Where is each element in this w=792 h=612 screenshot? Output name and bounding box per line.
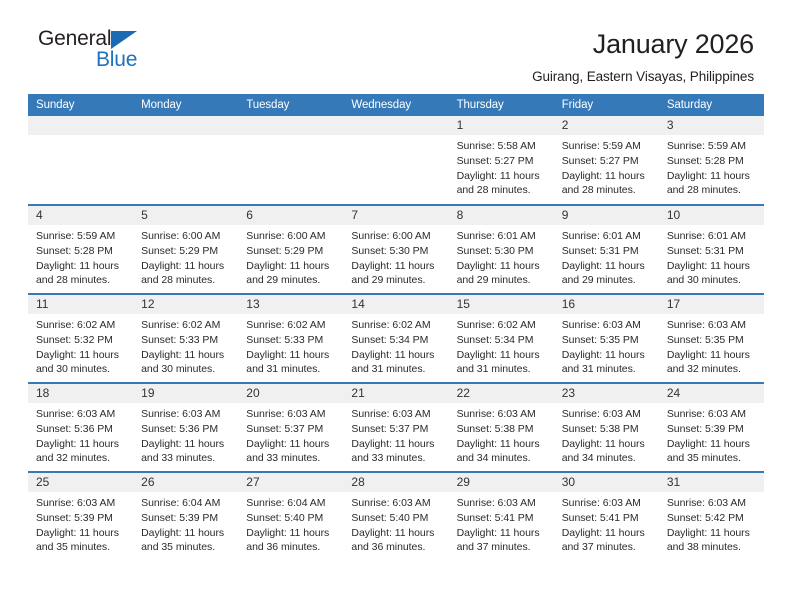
- daylight-text-line1: Daylight: 11 hours: [457, 437, 547, 452]
- sunrise-text: Sunrise: 6:03 AM: [667, 318, 757, 333]
- day-number: 14: [343, 295, 448, 314]
- day-number: 5: [133, 206, 238, 225]
- sunrise-text: Sunrise: 6:03 AM: [351, 407, 441, 422]
- day-details: Sunrise: 6:02 AMSunset: 5:32 PMDaylight:…: [28, 314, 133, 376]
- calendar-day-cell[interactable]: 24Sunrise: 6:03 AMSunset: 5:39 PMDayligh…: [659, 383, 764, 472]
- day-details: Sunrise: 5:58 AMSunset: 5:27 PMDaylight:…: [449, 135, 554, 197]
- daylight-text-line1: Daylight: 11 hours: [667, 259, 757, 274]
- daylight-text-line1: Daylight: 11 hours: [457, 259, 547, 274]
- day-details: Sunrise: 6:02 AMSunset: 5:33 PMDaylight:…: [133, 314, 238, 376]
- logo-text-general: General: [38, 27, 111, 50]
- day-number: 21: [343, 384, 448, 403]
- calendar-cell-empty: [133, 116, 238, 205]
- calendar-week-row: 25Sunrise: 6:03 AMSunset: 5:39 PMDayligh…: [28, 472, 764, 561]
- calendar-day-cell[interactable]: 16Sunrise: 6:03 AMSunset: 5:35 PMDayligh…: [554, 294, 659, 383]
- sunset-text: Sunset: 5:28 PM: [667, 154, 757, 169]
- daylight-text-line2: and 33 minutes.: [351, 451, 441, 466]
- daylight-text-line2: and 36 minutes.: [351, 540, 441, 555]
- page-header: General Blue January 2026 Guirang, Easte…: [0, 0, 792, 84]
- calendar-day-cell[interactable]: 20Sunrise: 6:03 AMSunset: 5:37 PMDayligh…: [238, 383, 343, 472]
- daylight-text-line2: and 37 minutes.: [562, 540, 652, 555]
- sunset-text: Sunset: 5:34 PM: [351, 333, 441, 348]
- calendar-day-cell[interactable]: 13Sunrise: 6:02 AMSunset: 5:33 PMDayligh…: [238, 294, 343, 383]
- daylight-text-line1: Daylight: 11 hours: [351, 526, 441, 541]
- daylight-text-line1: Daylight: 11 hours: [36, 437, 126, 452]
- sunset-text: Sunset: 5:35 PM: [667, 333, 757, 348]
- daylight-text-line1: Daylight: 11 hours: [667, 526, 757, 541]
- day-details: Sunrise: 6:03 AMSunset: 5:42 PMDaylight:…: [659, 492, 764, 554]
- sunrise-text: Sunrise: 6:04 AM: [246, 496, 336, 511]
- day-details: Sunrise: 5:59 AMSunset: 5:28 PMDaylight:…: [659, 135, 764, 197]
- weekday-header-tuesday: Tuesday: [238, 94, 343, 116]
- day-details: Sunrise: 6:03 AMSunset: 5:37 PMDaylight:…: [238, 403, 343, 465]
- daylight-text-line1: Daylight: 11 hours: [246, 348, 336, 363]
- calendar-day-cell[interactable]: 3Sunrise: 5:59 AMSunset: 5:28 PMDaylight…: [659, 116, 764, 205]
- daylight-text-line2: and 32 minutes.: [36, 451, 126, 466]
- day-number: [238, 116, 343, 135]
- sunrise-text: Sunrise: 6:00 AM: [351, 229, 441, 244]
- daylight-text-line2: and 35 minutes.: [141, 540, 231, 555]
- calendar-cell-empty: [343, 116, 448, 205]
- calendar-week-row: 11Sunrise: 6:02 AMSunset: 5:32 PMDayligh…: [28, 294, 764, 383]
- calendar-day-cell[interactable]: 12Sunrise: 6:02 AMSunset: 5:33 PMDayligh…: [133, 294, 238, 383]
- sunrise-text: Sunrise: 6:02 AM: [36, 318, 126, 333]
- day-number: 9: [554, 206, 659, 225]
- day-details: Sunrise: 6:03 AMSunset: 5:40 PMDaylight:…: [343, 492, 448, 554]
- day-number: 10: [659, 206, 764, 225]
- calendar-day-cell[interactable]: 26Sunrise: 6:04 AMSunset: 5:39 PMDayligh…: [133, 472, 238, 561]
- daylight-text-line1: Daylight: 11 hours: [36, 348, 126, 363]
- day-details: Sunrise: 6:01 AMSunset: 5:31 PMDaylight:…: [554, 225, 659, 287]
- sunrise-text: Sunrise: 6:03 AM: [351, 496, 441, 511]
- title-block: January 2026 Guirang, Eastern Visayas, P…: [532, 28, 754, 84]
- sunrise-text: Sunrise: 6:04 AM: [141, 496, 231, 511]
- day-number: [343, 116, 448, 135]
- triangle-icon: [111, 31, 137, 49]
- calendar-week-row: 4Sunrise: 5:59 AMSunset: 5:28 PMDaylight…: [28, 205, 764, 294]
- day-number: 29: [449, 473, 554, 492]
- calendar-day-cell[interactable]: 19Sunrise: 6:03 AMSunset: 5:36 PMDayligh…: [133, 383, 238, 472]
- day-details: Sunrise: 6:02 AMSunset: 5:34 PMDaylight:…: [343, 314, 448, 376]
- weekday-header-saturday: Saturday: [659, 94, 764, 116]
- day-details: Sunrise: 6:04 AMSunset: 5:40 PMDaylight:…: [238, 492, 343, 554]
- daylight-text-line1: Daylight: 11 hours: [457, 348, 547, 363]
- daylight-text-line2: and 35 minutes.: [667, 451, 757, 466]
- day-number: 18: [28, 384, 133, 403]
- sunset-text: Sunset: 5:30 PM: [457, 244, 547, 259]
- sunrise-text: Sunrise: 5:59 AM: [36, 229, 126, 244]
- sunset-text: Sunset: 5:39 PM: [667, 422, 757, 437]
- day-number: [133, 116, 238, 135]
- daylight-text-line1: Daylight: 11 hours: [667, 169, 757, 184]
- daylight-text-line2: and 29 minutes.: [246, 273, 336, 288]
- sunset-text: Sunset: 5:38 PM: [562, 422, 652, 437]
- sunrise-text: Sunrise: 6:03 AM: [562, 407, 652, 422]
- day-number: 25: [28, 473, 133, 492]
- sunrise-text: Sunrise: 6:02 AM: [351, 318, 441, 333]
- sunset-text: Sunset: 5:34 PM: [457, 333, 547, 348]
- sunrise-text: Sunrise: 6:01 AM: [457, 229, 547, 244]
- calendar-day-cell[interactable]: 6Sunrise: 6:00 AMSunset: 5:29 PMDaylight…: [238, 205, 343, 294]
- calendar-container: SundayMondayTuesdayWednesdayThursdayFrid…: [0, 94, 792, 561]
- sunset-text: Sunset: 5:28 PM: [36, 244, 126, 259]
- sunset-text: Sunset: 5:36 PM: [141, 422, 231, 437]
- daylight-text-line2: and 28 minutes.: [141, 273, 231, 288]
- sunset-text: Sunset: 5:37 PM: [246, 422, 336, 437]
- daylight-text-line1: Daylight: 11 hours: [36, 259, 126, 274]
- daylight-text-line1: Daylight: 11 hours: [351, 259, 441, 274]
- calendar-day-cell[interactable]: 11Sunrise: 6:02 AMSunset: 5:32 PMDayligh…: [28, 294, 133, 383]
- sunrise-text: Sunrise: 6:02 AM: [141, 318, 231, 333]
- day-details: Sunrise: 5:59 AMSunset: 5:27 PMDaylight:…: [554, 135, 659, 197]
- daylight-text-line1: Daylight: 11 hours: [562, 169, 652, 184]
- sunset-text: Sunset: 5:37 PM: [351, 422, 441, 437]
- day-number: 22: [449, 384, 554, 403]
- daylight-text-line1: Daylight: 11 hours: [562, 259, 652, 274]
- day-number: 7: [343, 206, 448, 225]
- sunset-text: Sunset: 5:30 PM: [351, 244, 441, 259]
- calendar-header-row: SundayMondayTuesdayWednesdayThursdayFrid…: [28, 94, 764, 116]
- daylight-text-line2: and 34 minutes.: [562, 451, 652, 466]
- daylight-text-line2: and 31 minutes.: [246, 362, 336, 377]
- day-details: Sunrise: 6:03 AMSunset: 5:39 PMDaylight:…: [28, 492, 133, 554]
- daylight-text-line1: Daylight: 11 hours: [141, 259, 231, 274]
- calendar-day-cell[interactable]: 23Sunrise: 6:03 AMSunset: 5:38 PMDayligh…: [554, 383, 659, 472]
- daylight-text-line2: and 35 minutes.: [36, 540, 126, 555]
- calendar-day-cell[interactable]: 14Sunrise: 6:02 AMSunset: 5:34 PMDayligh…: [343, 294, 448, 383]
- daylight-text-line1: Daylight: 11 hours: [246, 526, 336, 541]
- calendar-day-cell[interactable]: 15Sunrise: 6:02 AMSunset: 5:34 PMDayligh…: [449, 294, 554, 383]
- sunset-text: Sunset: 5:36 PM: [36, 422, 126, 437]
- day-details: Sunrise: 6:03 AMSunset: 5:35 PMDaylight:…: [659, 314, 764, 376]
- sunrise-text: Sunrise: 6:03 AM: [141, 407, 231, 422]
- day-number: 3: [659, 116, 764, 135]
- day-number: 8: [449, 206, 554, 225]
- sunrise-text: Sunrise: 6:02 AM: [457, 318, 547, 333]
- sunrise-text: Sunrise: 6:01 AM: [562, 229, 652, 244]
- daylight-text-line2: and 34 minutes.: [457, 451, 547, 466]
- sunset-text: Sunset: 5:33 PM: [246, 333, 336, 348]
- day-number: 28: [343, 473, 448, 492]
- calendar-day-cell[interactable]: 21Sunrise: 6:03 AMSunset: 5:37 PMDayligh…: [343, 383, 448, 472]
- sunrise-text: Sunrise: 5:58 AM: [457, 139, 547, 154]
- calendar-day-cell[interactable]: 9Sunrise: 6:01 AMSunset: 5:31 PMDaylight…: [554, 205, 659, 294]
- weekday-header-friday: Friday: [554, 94, 659, 116]
- sunrise-text: Sunrise: 6:03 AM: [457, 407, 547, 422]
- daylight-text-line2: and 31 minutes.: [562, 362, 652, 377]
- sunset-text: Sunset: 5:39 PM: [141, 511, 231, 526]
- sunrise-text: Sunrise: 6:00 AM: [141, 229, 231, 244]
- sunset-text: Sunset: 5:35 PM: [562, 333, 652, 348]
- daylight-text-line2: and 30 minutes.: [36, 362, 126, 377]
- sunset-text: Sunset: 5:31 PM: [667, 244, 757, 259]
- day-details: Sunrise: 5:59 AMSunset: 5:28 PMDaylight:…: [28, 225, 133, 287]
- calendar-day-cell[interactable]: 7Sunrise: 6:00 AMSunset: 5:30 PMDaylight…: [343, 205, 448, 294]
- daylight-text-line1: Daylight: 11 hours: [457, 169, 547, 184]
- day-number: 30: [554, 473, 659, 492]
- daylight-text-line1: Daylight: 11 hours: [667, 348, 757, 363]
- daylight-text-line1: Daylight: 11 hours: [246, 259, 336, 274]
- sunset-text: Sunset: 5:29 PM: [141, 244, 231, 259]
- calendar-day-cell[interactable]: 2Sunrise: 5:59 AMSunset: 5:27 PMDaylight…: [554, 116, 659, 205]
- daylight-text-line2: and 36 minutes.: [246, 540, 336, 555]
- sunset-text: Sunset: 5:38 PM: [457, 422, 547, 437]
- day-details: Sunrise: 6:03 AMSunset: 5:39 PMDaylight:…: [659, 403, 764, 465]
- day-details: Sunrise: 6:00 AMSunset: 5:29 PMDaylight:…: [133, 225, 238, 287]
- sunrise-text: Sunrise: 6:03 AM: [457, 496, 547, 511]
- day-number: 6: [238, 206, 343, 225]
- daylight-text-line1: Daylight: 11 hours: [457, 526, 547, 541]
- daylight-text-line1: Daylight: 11 hours: [141, 437, 231, 452]
- day-number: 27: [238, 473, 343, 492]
- sunrise-text: Sunrise: 6:03 AM: [667, 496, 757, 511]
- day-details: Sunrise: 6:03 AMSunset: 5:36 PMDaylight:…: [28, 403, 133, 465]
- daylight-text-line2: and 33 minutes.: [246, 451, 336, 466]
- day-number: 11: [28, 295, 133, 314]
- day-number: 16: [554, 295, 659, 314]
- location-subtitle: Guirang, Eastern Visayas, Philippines: [532, 69, 754, 84]
- calendar-day-cell[interactable]: 25Sunrise: 6:03 AMSunset: 5:39 PMDayligh…: [28, 472, 133, 561]
- day-number: [28, 116, 133, 135]
- sunrise-text: Sunrise: 5:59 AM: [667, 139, 757, 154]
- calendar-day-cell[interactable]: 17Sunrise: 6:03 AMSunset: 5:35 PMDayligh…: [659, 294, 764, 383]
- daylight-text-line1: Daylight: 11 hours: [562, 437, 652, 452]
- daylight-text-line2: and 29 minutes.: [351, 273, 441, 288]
- sunrise-text: Sunrise: 6:03 AM: [562, 496, 652, 511]
- day-number: 20: [238, 384, 343, 403]
- day-number: 13: [238, 295, 343, 314]
- day-number: 1: [449, 116, 554, 135]
- daylight-text-line2: and 28 minutes.: [667, 183, 757, 198]
- calendar-day-cell[interactable]: 27Sunrise: 6:04 AMSunset: 5:40 PMDayligh…: [238, 472, 343, 561]
- sunrise-text: Sunrise: 6:03 AM: [36, 496, 126, 511]
- calendar-day-cell[interactable]: 30Sunrise: 6:03 AMSunset: 5:41 PMDayligh…: [554, 472, 659, 561]
- generalblue-logo[interactable]: General Blue: [38, 28, 158, 80]
- sunrise-text: Sunrise: 6:02 AM: [246, 318, 336, 333]
- sunset-text: Sunset: 5:29 PM: [246, 244, 336, 259]
- daylight-text-line2: and 30 minutes.: [667, 273, 757, 288]
- sunrise-text: Sunrise: 6:00 AM: [246, 229, 336, 244]
- calendar-day-cell[interactable]: 10Sunrise: 6:01 AMSunset: 5:31 PMDayligh…: [659, 205, 764, 294]
- sunrise-text: Sunrise: 6:03 AM: [36, 407, 126, 422]
- daylight-text-line2: and 28 minutes.: [457, 183, 547, 198]
- daylight-text-line2: and 29 minutes.: [562, 273, 652, 288]
- calendar-day-cell[interactable]: 8Sunrise: 6:01 AMSunset: 5:30 PMDaylight…: [449, 205, 554, 294]
- day-details: Sunrise: 6:00 AMSunset: 5:29 PMDaylight:…: [238, 225, 343, 287]
- day-details: Sunrise: 6:03 AMSunset: 5:38 PMDaylight:…: [554, 403, 659, 465]
- daylight-text-line2: and 37 minutes.: [457, 540, 547, 555]
- sunset-text: Sunset: 5:27 PM: [562, 154, 652, 169]
- daylight-text-line2: and 31 minutes.: [351, 362, 441, 377]
- daylight-text-line2: and 28 minutes.: [562, 183, 652, 198]
- sunset-text: Sunset: 5:40 PM: [246, 511, 336, 526]
- sunset-text: Sunset: 5:33 PM: [141, 333, 231, 348]
- day-number: 24: [659, 384, 764, 403]
- day-details: Sunrise: 6:03 AMSunset: 5:38 PMDaylight:…: [449, 403, 554, 465]
- day-number: 17: [659, 295, 764, 314]
- calendar-day-cell[interactable]: 1Sunrise: 5:58 AMSunset: 5:27 PMDaylight…: [449, 116, 554, 205]
- day-details: Sunrise: 6:00 AMSunset: 5:30 PMDaylight:…: [343, 225, 448, 287]
- calendar-week-row: 1Sunrise: 5:58 AMSunset: 5:27 PMDaylight…: [28, 116, 764, 205]
- page-title: January 2026: [532, 30, 754, 58]
- daylight-text-line2: and 33 minutes.: [141, 451, 231, 466]
- sunrise-text: Sunrise: 5:59 AM: [562, 139, 652, 154]
- calendar-day-cell[interactable]: 5Sunrise: 6:00 AMSunset: 5:29 PMDaylight…: [133, 205, 238, 294]
- logo-text-blue: Blue: [96, 49, 137, 70]
- calendar-cell-empty: [28, 116, 133, 205]
- sunset-text: Sunset: 5:32 PM: [36, 333, 126, 348]
- sunset-text: Sunset: 5:42 PM: [667, 511, 757, 526]
- calendar-day-cell[interactable]: 29Sunrise: 6:03 AMSunset: 5:41 PMDayligh…: [449, 472, 554, 561]
- calendar-day-cell[interactable]: 28Sunrise: 6:03 AMSunset: 5:40 PMDayligh…: [343, 472, 448, 561]
- calendar-day-cell[interactable]: 22Sunrise: 6:03 AMSunset: 5:38 PMDayligh…: [449, 383, 554, 472]
- day-details: Sunrise: 6:01 AMSunset: 5:31 PMDaylight:…: [659, 225, 764, 287]
- weekday-header-monday: Monday: [133, 94, 238, 116]
- day-number: 31: [659, 473, 764, 492]
- sunset-text: Sunset: 5:41 PM: [457, 511, 547, 526]
- calendar-page: General Blue January 2026 Guirang, Easte…: [0, 0, 792, 612]
- day-number: 15: [449, 295, 554, 314]
- sunrise-text: Sunrise: 6:03 AM: [246, 407, 336, 422]
- weekday-header-sunday: Sunday: [28, 94, 133, 116]
- daylight-text-line1: Daylight: 11 hours: [246, 437, 336, 452]
- weekday-header-thursday: Thursday: [449, 94, 554, 116]
- day-details: Sunrise: 6:04 AMSunset: 5:39 PMDaylight:…: [133, 492, 238, 554]
- sunrise-text: Sunrise: 6:01 AM: [667, 229, 757, 244]
- calendar-week-row: 18Sunrise: 6:03 AMSunset: 5:36 PMDayligh…: [28, 383, 764, 472]
- sunset-text: Sunset: 5:31 PM: [562, 244, 652, 259]
- daylight-text-line1: Daylight: 11 hours: [36, 526, 126, 541]
- day-details: Sunrise: 6:01 AMSunset: 5:30 PMDaylight:…: [449, 225, 554, 287]
- sunset-text: Sunset: 5:39 PM: [36, 511, 126, 526]
- daylight-text-line1: Daylight: 11 hours: [351, 348, 441, 363]
- calendar-table: SundayMondayTuesdayWednesdayThursdayFrid…: [28, 94, 764, 561]
- day-number: 4: [28, 206, 133, 225]
- calendar-day-cell[interactable]: 18Sunrise: 6:03 AMSunset: 5:36 PMDayligh…: [28, 383, 133, 472]
- day-number: 12: [133, 295, 238, 314]
- day-details: Sunrise: 6:03 AMSunset: 5:41 PMDaylight:…: [449, 492, 554, 554]
- sunset-text: Sunset: 5:40 PM: [351, 511, 441, 526]
- calendar-day-cell[interactable]: 4Sunrise: 5:59 AMSunset: 5:28 PMDaylight…: [28, 205, 133, 294]
- sunset-text: Sunset: 5:27 PM: [457, 154, 547, 169]
- daylight-text-line1: Daylight: 11 hours: [562, 348, 652, 363]
- daylight-text-line2: and 30 minutes.: [141, 362, 231, 377]
- daylight-text-line1: Daylight: 11 hours: [141, 526, 231, 541]
- day-number: 19: [133, 384, 238, 403]
- calendar-day-cell[interactable]: 31Sunrise: 6:03 AMSunset: 5:42 PMDayligh…: [659, 472, 764, 561]
- daylight-text-line2: and 38 minutes.: [667, 540, 757, 555]
- day-details: Sunrise: 6:02 AMSunset: 5:34 PMDaylight:…: [449, 314, 554, 376]
- day-number: 26: [133, 473, 238, 492]
- daylight-text-line1: Daylight: 11 hours: [351, 437, 441, 452]
- daylight-text-line2: and 31 minutes.: [457, 362, 547, 377]
- sunrise-text: Sunrise: 6:03 AM: [562, 318, 652, 333]
- day-details: Sunrise: 6:03 AMSunset: 5:37 PMDaylight:…: [343, 403, 448, 465]
- day-details: Sunrise: 6:03 AMSunset: 5:36 PMDaylight:…: [133, 403, 238, 465]
- calendar-cell-empty: [238, 116, 343, 205]
- day-number: 23: [554, 384, 659, 403]
- weekday-header-wednesday: Wednesday: [343, 94, 448, 116]
- daylight-text-line1: Daylight: 11 hours: [141, 348, 231, 363]
- daylight-text-line2: and 29 minutes.: [457, 273, 547, 288]
- day-details: Sunrise: 6:02 AMSunset: 5:33 PMDaylight:…: [238, 314, 343, 376]
- daylight-text-line1: Daylight: 11 hours: [562, 526, 652, 541]
- sunrise-text: Sunrise: 6:03 AM: [667, 407, 757, 422]
- sunset-text: Sunset: 5:41 PM: [562, 511, 652, 526]
- day-details: Sunrise: 6:03 AMSunset: 5:35 PMDaylight:…: [554, 314, 659, 376]
- calendar-body: 1Sunrise: 5:58 AMSunset: 5:27 PMDaylight…: [28, 116, 764, 561]
- daylight-text-line2: and 32 minutes.: [667, 362, 757, 377]
- daylight-text-line2: and 28 minutes.: [36, 273, 126, 288]
- daylight-text-line1: Daylight: 11 hours: [667, 437, 757, 452]
- day-details: Sunrise: 6:03 AMSunset: 5:41 PMDaylight:…: [554, 492, 659, 554]
- day-number: 2: [554, 116, 659, 135]
